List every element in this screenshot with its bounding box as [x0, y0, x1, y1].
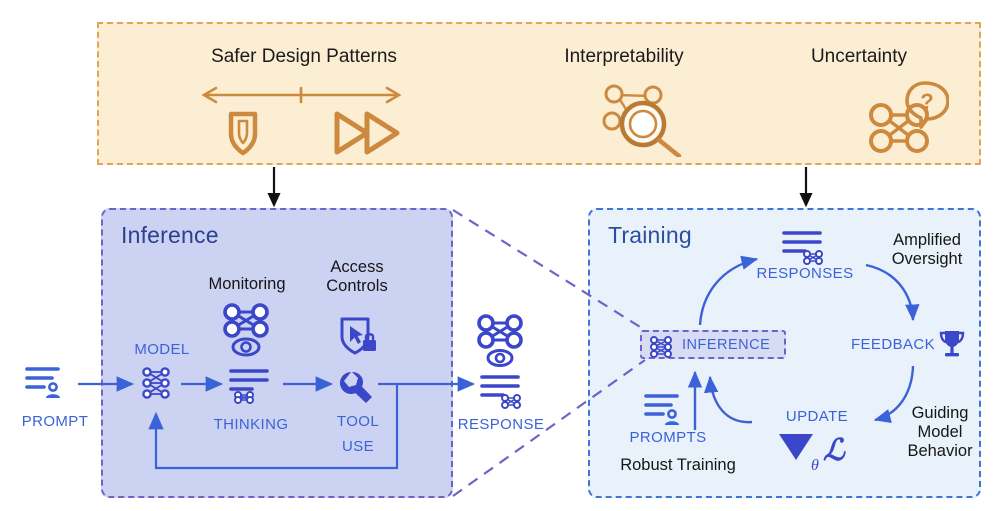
amplified-oversight-line2: Oversight [892, 250, 963, 268]
network-eye-icon [470, 313, 530, 369]
gradient-loss-symbol: θ ℒ [775, 430, 859, 474]
responses-label: RESPONSES [740, 265, 870, 282]
fast-forward-icon [337, 114, 397, 152]
tool-use-label-line1: TOOL [312, 413, 404, 430]
svg-text:?: ? [920, 89, 933, 114]
network-eye-icon [216, 302, 276, 358]
amplified-oversight-label: Amplified Oversight [872, 231, 982, 269]
network-magnifier-icon [529, 82, 719, 157]
band-item-label-interpretability: Interpretability [509, 46, 739, 68]
guiding-line1: Guiding [912, 404, 969, 422]
guiding-line2: Model [918, 423, 963, 441]
training-panel-title: Training [608, 222, 692, 249]
tool-use-label-line2: USE [312, 438, 404, 455]
prompt-label: PROMPT [0, 413, 110, 430]
response-label: RESPONSE [441, 416, 561, 433]
training-inference-chip-label: INFERENCE [682, 337, 770, 353]
band-item-label-uncertainty: Uncertainty [744, 46, 974, 68]
training-inference-chip[interactable]: INFERENCE [640, 330, 786, 359]
document-person-icon [641, 390, 685, 430]
access-controls-label-line1: Access [330, 258, 383, 276]
band-item-label-safer-design-patterns: Safer Design Patterns [99, 46, 509, 68]
svg-text:θ: θ [811, 457, 819, 474]
trophy-icon [937, 328, 967, 360]
shield-icon [231, 114, 255, 153]
thinking-label: THINKING [196, 416, 306, 433]
amplified-oversight-line1: Amplified [893, 231, 961, 249]
access-controls-label-line2: Controls [326, 277, 387, 295]
wrench-icon [337, 368, 375, 404]
monitoring-label: Monitoring [177, 275, 317, 294]
shield-cursor-lock-icon [335, 313, 381, 359]
diagram-canvas: Safer Design Patterns Interpretability U… [0, 0, 1000, 511]
update-label: UPDATE [762, 408, 872, 425]
guiding-line3: Behavior [907, 442, 972, 460]
safer-design-patterns-icon-group [189, 82, 419, 157]
guiding-model-behavior-label: Guiding Model Behavior [885, 404, 995, 460]
svg-text:ℒ: ℒ [823, 434, 846, 467]
document-network-icon [779, 228, 827, 266]
network-question-bubble-icon: ? [759, 79, 949, 157]
model-label: MODEL [112, 341, 212, 358]
inference-panel-title: Inference [121, 222, 219, 249]
feedback-label: FEEDBACK [843, 336, 943, 353]
access-controls-label: Access Controls [305, 258, 409, 296]
spectrum-arrow-icon [204, 88, 399, 102]
prompts-label: PROMPTS [613, 429, 723, 446]
document-network-icon [477, 372, 525, 410]
robust-training-label: Robust Training [598, 456, 758, 475]
document-person-icon [22, 363, 66, 403]
neural-network-icon [139, 366, 173, 402]
document-thinking-icon [226, 366, 274, 404]
neural-network-icon [648, 335, 676, 359]
top-band-panel: Safer Design Patterns Interpretability U… [97, 22, 981, 165]
